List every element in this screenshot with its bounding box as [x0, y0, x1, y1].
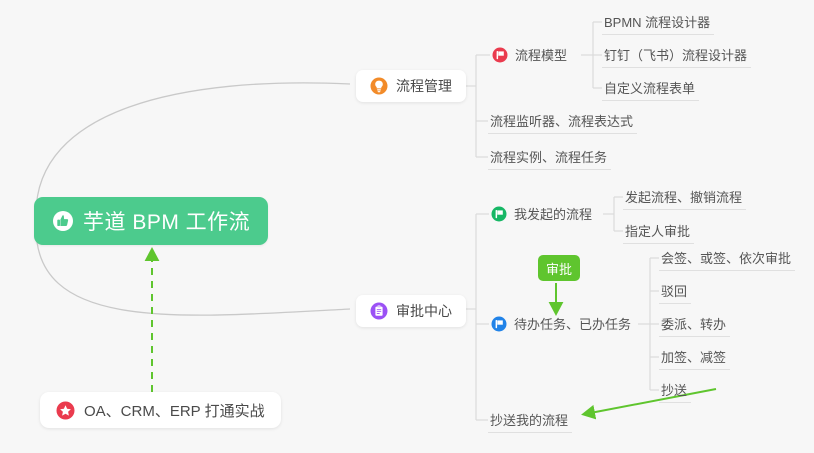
- flag-icon: [491, 206, 507, 222]
- leaf-label-start-cancel-process: 发起流程、撤销流程: [625, 187, 742, 206]
- leaf-process-listener[interactable]: 流程监听器、流程表达式: [488, 108, 637, 134]
- branch-node-process-management[interactable]: 流程管理: [356, 70, 466, 102]
- leaf-label-process-listener: 流程监听器、流程表达式: [490, 111, 633, 130]
- leaf-label-my-initiated: 我发起的流程: [514, 204, 592, 223]
- leaf-bpmn-designer[interactable]: BPMN 流程设计器: [602, 9, 714, 35]
- note-node-integration[interactable]: OA、CRM、ERP 打通实战: [40, 392, 281, 428]
- link-root-to-process-management: [36, 83, 350, 214]
- lightbulb-icon: [370, 77, 388, 95]
- leaf-my-initiated[interactable]: 我发起的流程: [489, 201, 596, 227]
- leaf-label-cc-to-me: 抄送我的流程: [490, 410, 568, 429]
- leaf-label-bpmn-designer: BPMN 流程设计器: [604, 12, 710, 31]
- leaf-add-remove-sign[interactable]: 加签、减签: [659, 344, 730, 370]
- leaf-label-dingtalk-designer: 钉钉（飞书）流程设计器: [604, 45, 747, 64]
- leaf-label-cc: 抄送: [661, 380, 687, 399]
- leaf-cc[interactable]: 抄送: [659, 377, 691, 403]
- leaf-label-designated-approver: 指定人审批: [625, 221, 690, 240]
- leaf-process-instance[interactable]: 流程实例、流程任务: [488, 144, 611, 170]
- leaf-label-process-instance: 流程实例、流程任务: [490, 147, 607, 166]
- root-label: 芋道 BPM 工作流: [83, 206, 250, 236]
- thumbs-up-icon: [52, 210, 74, 232]
- leaf-label-add-remove-sign: 加签、减签: [661, 347, 726, 366]
- mindmap-canvas: 芋道 BPM 工作流 流程管理 审批中心: [0, 0, 814, 453]
- approval-badge[interactable]: 审批: [538, 255, 580, 281]
- clipboard-icon: [370, 302, 388, 320]
- root-node[interactable]: 芋道 BPM 工作流: [34, 197, 268, 245]
- leaf-label-custom-form: 自定义流程表单: [604, 78, 695, 97]
- leaf-label-reject: 驳回: [661, 281, 687, 300]
- branch-label-process-management: 流程管理: [396, 76, 452, 96]
- leaf-tasks[interactable]: 待办任务、已办任务: [489, 311, 635, 337]
- leaf-dingtalk-designer[interactable]: 钉钉（飞书）流程设计器: [602, 42, 751, 68]
- leaf-custom-form[interactable]: 自定义流程表单: [602, 75, 699, 101]
- leaf-countersign[interactable]: 会签、或签、依次审批: [659, 245, 795, 271]
- leaf-delegate-transfer[interactable]: 委派、转办: [659, 311, 730, 337]
- leaf-start-cancel-process[interactable]: 发起流程、撤销流程: [623, 184, 746, 210]
- star-icon: [56, 401, 75, 420]
- leaf-label-delegate-transfer: 委派、转办: [661, 314, 726, 333]
- leaf-label-process-model: 流程模型: [515, 45, 567, 64]
- leaf-reject[interactable]: 驳回: [659, 278, 691, 304]
- leaf-designated-approver[interactable]: 指定人审批: [623, 218, 694, 244]
- flag-icon: [491, 316, 507, 332]
- leaf-process-model[interactable]: 流程模型: [490, 42, 571, 68]
- leaf-cc-to-me[interactable]: 抄送我的流程: [488, 407, 572, 433]
- branch-node-approval-center[interactable]: 审批中心: [356, 295, 466, 327]
- leaf-label-tasks: 待办任务、已办任务: [514, 314, 631, 333]
- arrow-cc-to-cc-to-me: [585, 389, 716, 414]
- leaf-label-countersign: 会签、或签、依次审批: [661, 248, 791, 267]
- note-label-integration: OA、CRM、ERP 打通实战: [84, 400, 265, 421]
- flag-icon: [492, 47, 508, 63]
- branch-label-approval-center: 审批中心: [396, 301, 452, 321]
